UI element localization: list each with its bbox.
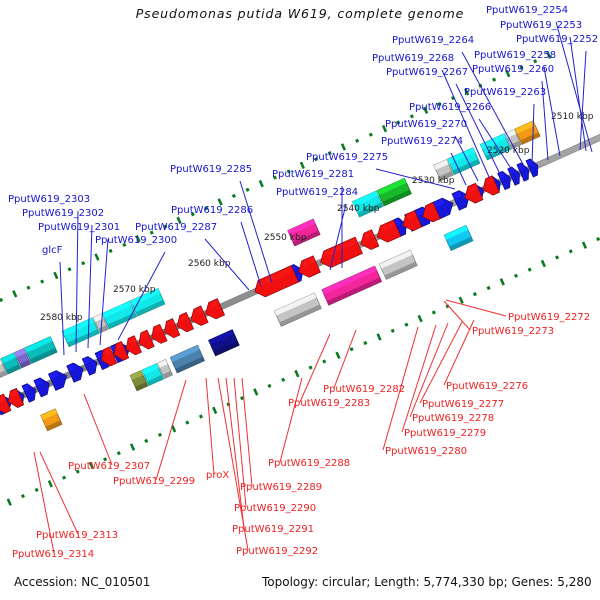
- label-leader-line: [241, 222, 261, 286]
- forward-gene-label[interactable]: PputW619_2263: [464, 87, 546, 98]
- feature-box[interactable]: [170, 345, 204, 373]
- scale-tick: [583, 242, 586, 248]
- scale-tick: [63, 476, 64, 479]
- scale-tick: [36, 488, 37, 491]
- scale-tick: [118, 452, 119, 455]
- reverse-gene-label[interactable]: PputW619_2292: [236, 546, 318, 557]
- forward-gene-label[interactable]: PputW619_2264: [392, 35, 474, 46]
- forward-gene-label[interactable]: PputW619_2260: [472, 64, 554, 75]
- scale-tick: [200, 415, 201, 418]
- label-leader-line: [444, 320, 474, 385]
- scale-tick: [233, 194, 234, 197]
- scale-tick: [28, 286, 29, 289]
- feature-box[interactable]: [41, 409, 63, 431]
- scale-tick: [474, 293, 475, 296]
- label-leader-line: [280, 378, 302, 462]
- scale-tick: [41, 280, 42, 283]
- scale-tick: [260, 180, 263, 186]
- reverse-gene-label[interactable]: PputW619_2283: [288, 398, 370, 409]
- scale-tick: [8, 499, 11, 505]
- feature-box[interactable]: [377, 178, 411, 206]
- scale-tick: [406, 323, 407, 326]
- scale-tick: [172, 426, 175, 432]
- forward-gene-label[interactable]: PputW619_2268: [372, 53, 454, 64]
- scale-tick: [241, 397, 242, 400]
- scale-tick: [146, 440, 147, 443]
- reverse-gene-label[interactable]: PputW619_2277: [422, 399, 504, 410]
- scale-tick: [356, 139, 357, 142]
- tick-label: 2510 kbp: [551, 112, 594, 122]
- scale-tick: [342, 144, 345, 150]
- forward-gene-label[interactable]: PputW619_2284: [276, 187, 358, 198]
- scale-tick: [213, 407, 216, 413]
- forward-gene-label[interactable]: PputW619_2300: [95, 235, 177, 246]
- forward-gene-label[interactable]: PputW619_2253: [500, 20, 582, 31]
- forward-gene-label[interactable]: PputW619_2252: [516, 34, 598, 45]
- reverse-gene-label[interactable]: proX: [206, 470, 229, 481]
- scale-tick: [433, 311, 434, 314]
- scale-tick: [269, 384, 270, 387]
- upper-feature-track[interactable]: [0, 121, 540, 387]
- label-leader-line: [240, 181, 272, 283]
- label-leader-line: [156, 380, 186, 480]
- scale-tick: [0, 298, 1, 301]
- tick-label: 2570 kbp: [113, 285, 156, 295]
- genome-map-viewer: Pseudomonas putida W619, complete genome…: [0, 0, 600, 600]
- reverse-gene-labels[interactable]: PputW619_2272PputW619_2273PputW619_2276P…: [12, 312, 590, 560]
- label-leader-line: [60, 262, 64, 355]
- scale-tick: [493, 78, 494, 81]
- reverse-gene-label[interactable]: PputW619_2272: [508, 312, 590, 323]
- reverse-gene-label[interactable]: PputW619_2278: [412, 413, 494, 424]
- reverse-gene-label[interactable]: PputW619_2288: [268, 458, 350, 469]
- scale-tick: [13, 291, 16, 297]
- scale-tick: [95, 254, 98, 260]
- forward-gene-label[interactable]: PputW619_2303: [8, 194, 90, 205]
- tick-label: 2560 kbp: [188, 259, 231, 269]
- scale-tick: [392, 329, 393, 332]
- reverse-gene-label[interactable]: PputW619_2289: [240, 482, 322, 493]
- tick-label: 2530 kbp: [412, 176, 455, 186]
- forward-gene-label[interactable]: PputW619_2287: [135, 222, 217, 233]
- scale-tick: [301, 162, 304, 168]
- scale-tick: [460, 297, 463, 303]
- genome-backbone[interactable]: [0, 0, 600, 413]
- scale-tick: [515, 274, 516, 277]
- feature-box[interactable]: [447, 148, 479, 175]
- reverse-gene-label[interactable]: PputW619_2307: [68, 461, 150, 472]
- scale-tick: [310, 366, 311, 369]
- reverse-gene-arrow[interactable]: [255, 266, 299, 297]
- reverse-gene-label[interactable]: PputW619_2299: [113, 476, 195, 487]
- scale-tick: [598, 238, 599, 241]
- scale-tick: [22, 495, 23, 498]
- reverse-gene-label[interactable]: PputW619_2314: [12, 549, 94, 560]
- scale-tick: [83, 262, 84, 265]
- reverse-gene-label[interactable]: PputW619_2290: [234, 503, 316, 514]
- genome-map-canvas[interactable]: Pseudomonas putida W619, complete genome…: [0, 0, 600, 600]
- label-leader-line: [580, 51, 586, 150]
- scale-tick: [295, 370, 298, 376]
- forward-gene-label[interactable]: PputW619_2302: [22, 208, 104, 219]
- feature-box[interactable]: [25, 337, 57, 364]
- tick-label: 2550 kbp: [264, 233, 307, 243]
- scale-tick: [247, 188, 248, 191]
- scale-tick: [324, 360, 325, 363]
- reverse-gene-label[interactable]: PputW619_2273: [472, 326, 554, 337]
- backbone-bar[interactable]: [0, 0, 600, 413]
- feature-box[interactable]: [274, 293, 321, 326]
- scale-tick: [411, 115, 412, 118]
- label-leader-line: [84, 394, 112, 465]
- scale-tick: [254, 389, 257, 395]
- feature-box[interactable]: [444, 225, 473, 250]
- feature-box[interactable]: [322, 266, 382, 305]
- scale-tick: [351, 348, 352, 351]
- scale-tick: [370, 133, 371, 136]
- forward-gene-label[interactable]: PputW619_2285: [170, 164, 252, 175]
- reverse-gene-arrow[interactable]: [299, 256, 321, 278]
- forward-gene-label[interactable]: glcF: [42, 245, 63, 256]
- reverse-gene-label[interactable]: PputW619_2282: [323, 384, 405, 395]
- forward-gene-label[interactable]: PputW619_2301: [38, 222, 120, 233]
- scale-tick: [131, 444, 134, 450]
- scale-tick: [556, 256, 557, 259]
- label-leader-line: [206, 378, 214, 474]
- reverse-gene-label[interactable]: PputW619_2291: [232, 524, 314, 535]
- reverse-gene-label[interactable]: PputW619_2279: [404, 428, 486, 439]
- scale-tick: [110, 250, 111, 253]
- reverse-gene-label[interactable]: PputW619_2276: [446, 381, 528, 392]
- reverse-gene-label[interactable]: PputW619_2313: [36, 530, 118, 541]
- forward-gene-label[interactable]: PputW619_2275: [306, 152, 388, 163]
- scale-tick: [283, 378, 284, 381]
- scale-tick: [501, 279, 504, 285]
- forward-gene-label[interactable]: PputW619_2270: [385, 119, 467, 130]
- accession-text: Accession: NC_010501: [14, 575, 150, 589]
- scale-tick: [365, 342, 366, 345]
- scale-tick: [49, 481, 52, 487]
- forward-gene-label[interactable]: PputW619_2286: [171, 205, 253, 216]
- reverse-gene-label[interactable]: PputW619_2280: [385, 446, 467, 457]
- forward-gene-label[interactable]: PputW619_2266: [409, 102, 491, 113]
- scale-tick: [54, 272, 57, 278]
- scale-tick: [69, 268, 70, 271]
- feature-box[interactable]: [379, 250, 417, 279]
- scale-tick: [529, 268, 530, 271]
- tick-label: 2540 kbp: [337, 204, 380, 214]
- genome-stats-text: Topology: circular; Length: 5,774,330 bp…: [261, 575, 592, 589]
- forward-gene-label[interactable]: PputW619_2281: [272, 169, 354, 180]
- forward-gene-label[interactable]: PputW619_2254: [486, 5, 568, 16]
- page-title: Pseudomonas putida W619, complete genome: [136, 6, 465, 21]
- label-leader-line: [334, 330, 356, 388]
- forward-gene-label[interactable]: PputW619_2258: [474, 50, 556, 61]
- reverse-label-leaders: [34, 300, 506, 553]
- scale-tick: [337, 352, 340, 358]
- forward-gene-labels[interactable]: PputW619_2254PputW619_2253PputW619_2252P…: [8, 5, 598, 256]
- tick-label: 2520 kbp: [487, 146, 530, 156]
- feature-box[interactable]: [209, 330, 240, 356]
- label-leader-line: [242, 378, 252, 486]
- scale-tick: [187, 421, 188, 424]
- scale-tick: [488, 287, 489, 290]
- scale-tick: [570, 250, 571, 253]
- forward-gene-label[interactable]: PputW619_2274: [381, 136, 463, 147]
- scale-tick: [542, 260, 545, 266]
- scale-tick: [159, 433, 160, 436]
- scale-tick: [378, 334, 381, 340]
- scale-tick: [419, 315, 422, 321]
- forward-gene-label[interactable]: PputW619_2267: [386, 67, 468, 78]
